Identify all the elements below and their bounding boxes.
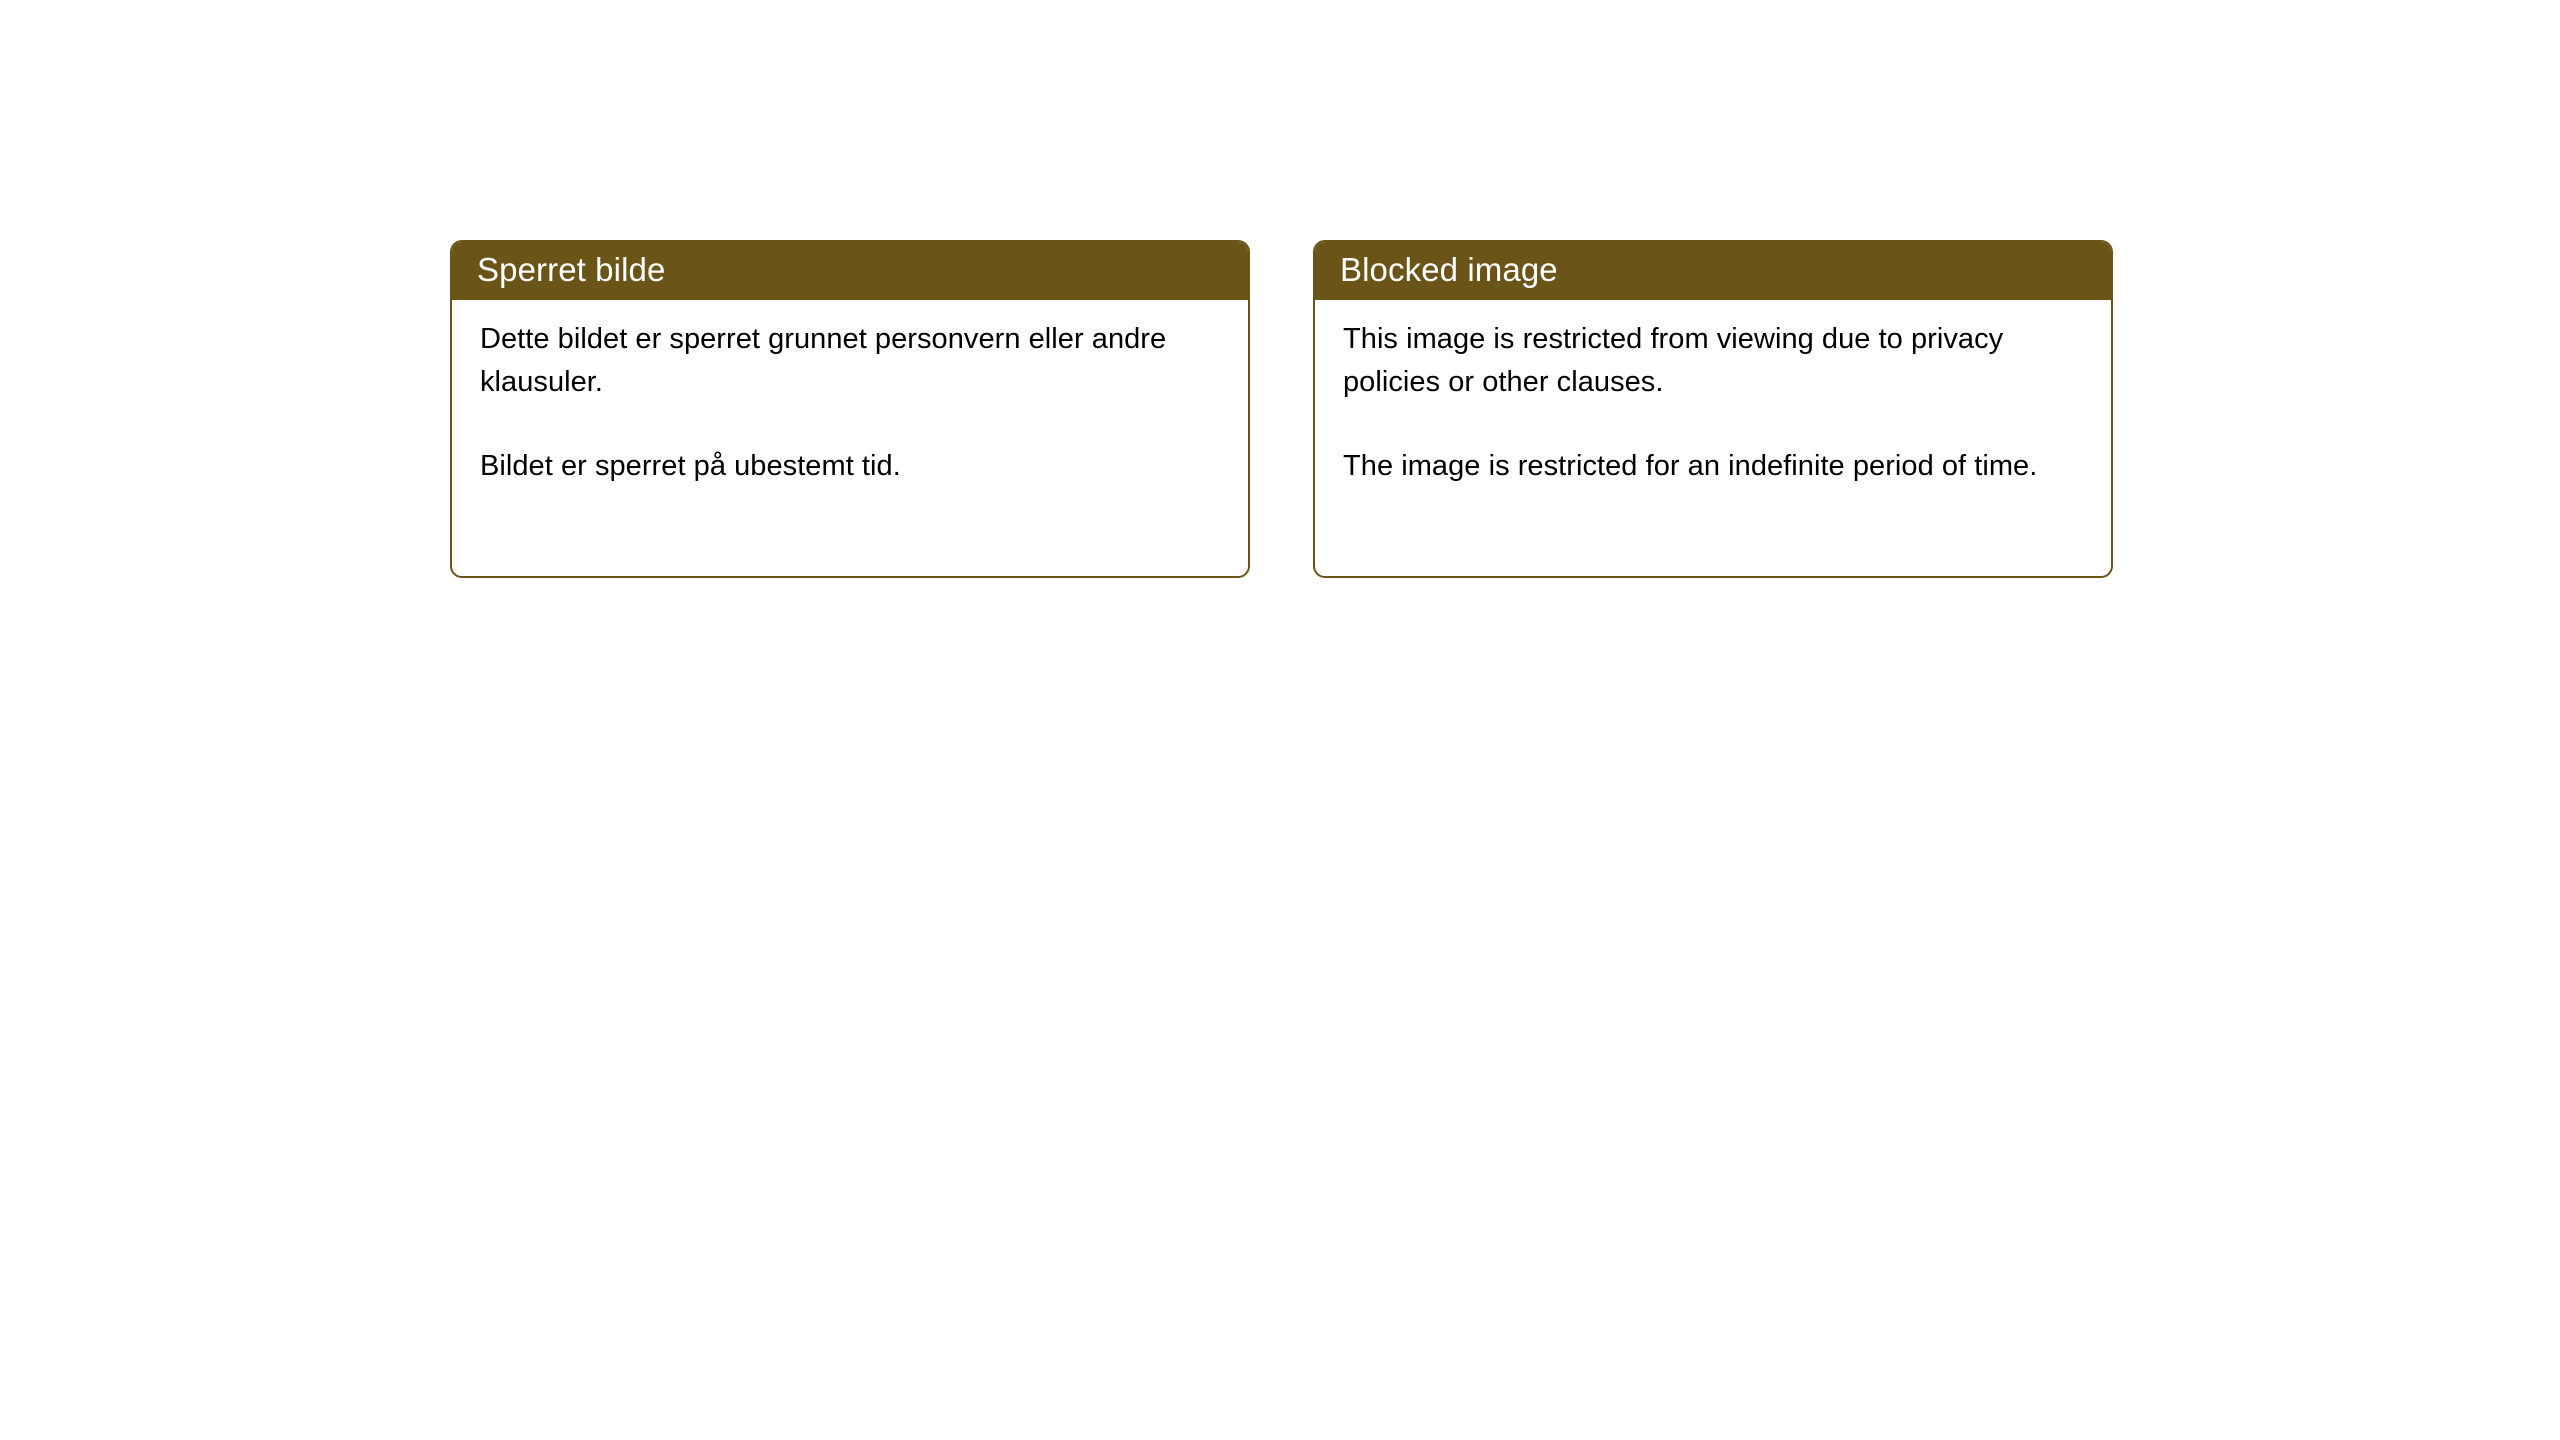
blocked-image-notice-card-en: Blocked image This image is restricted f… (1313, 240, 2113, 578)
card-body-en: This image is restricted from viewing du… (1315, 300, 2111, 488)
card-header-no: Sperret bilde (450, 240, 1250, 300)
page-root: { "theme": { "header_background": "#6b54… (0, 0, 2560, 1440)
card-title-en: Blocked image (1340, 252, 1558, 288)
card-header-en: Blocked image (1313, 240, 2113, 300)
card-paragraph-secondary-en: The image is restricted for an indefinit… (1343, 445, 2081, 488)
card-paragraph-primary-no: Dette bildet er sperret grunnet personve… (480, 318, 1218, 404)
card-title-no: Sperret bilde (477, 252, 665, 288)
blocked-image-notice-card-no: Sperret bilde Dette bildet er sperret gr… (450, 240, 1250, 578)
card-paragraph-primary-en: This image is restricted from viewing du… (1343, 318, 2081, 404)
card-body-no: Dette bildet er sperret grunnet personve… (452, 300, 1248, 488)
card-paragraph-secondary-no: Bildet er sperret på ubestemt tid. (480, 445, 1218, 488)
